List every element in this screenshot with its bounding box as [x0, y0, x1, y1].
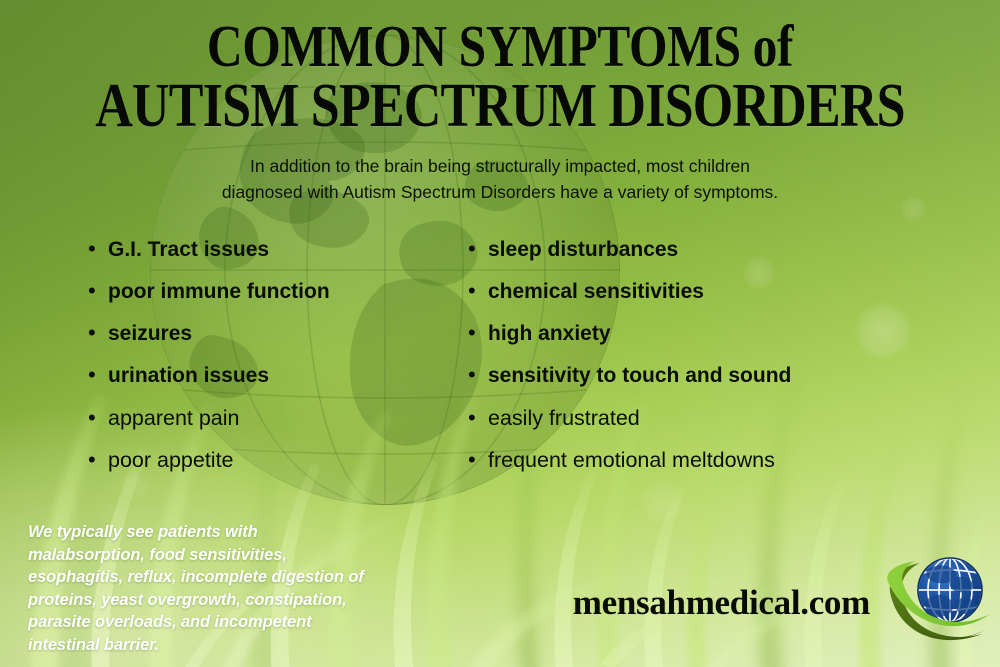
bullet-icon: • — [88, 449, 108, 471]
note-line: malabsorption, food sensitivities, — [28, 544, 448, 567]
symptom-item: • urination issues — [88, 364, 468, 406]
bullet-icon: • — [88, 364, 108, 386]
symptom-label: urination issues — [108, 364, 269, 388]
symptom-label: seizures — [108, 322, 192, 346]
symptom-item: • chemical sensitivities — [468, 280, 968, 322]
symptom-label: sleep disturbances — [488, 238, 678, 262]
symptom-item: • seizures — [88, 322, 468, 364]
symptom-item: • G.I. Tract issues — [88, 238, 468, 280]
infographic-poster: COMMON SYMPTOMS of AUTISM SPECTRUM DISOR… — [0, 0, 1000, 667]
symptom-item: • frequent emotional meltdowns — [468, 448, 968, 490]
symptom-label: chemical sensitivities — [488, 280, 704, 304]
note-line: esophagitis, reflux, incomplete digestio… — [28, 566, 448, 589]
symptoms-right-column: • sleep disturbances • chemical sensitiv… — [468, 238, 968, 490]
globe-swoosh-logo[interactable] — [882, 548, 992, 653]
subtitle-line-2: diagnosed with Autism Spectrum Disorders… — [0, 179, 1000, 205]
symptom-label: poor appetite — [108, 448, 234, 473]
bullet-icon: • — [468, 322, 488, 344]
symptom-item: • apparent pain — [88, 406, 468, 448]
page-title: COMMON SYMPTOMS of AUTISM SPECTRUM DISOR… — [80, 16, 920, 136]
symptom-label: easily frustrated — [488, 406, 640, 431]
symptom-label: apparent pain — [108, 406, 240, 431]
note-line: intestinal barrier. — [28, 634, 448, 657]
website-url[interactable]: mensahmedical.com — [573, 583, 870, 623]
practitioner-note: We typically see patients with malabsorp… — [28, 521, 448, 656]
symptom-item: • easily frustrated — [468, 406, 968, 448]
note-line: proteins, yeast overgrowth, constipation… — [28, 589, 448, 612]
bullet-icon: • — [468, 449, 488, 471]
symptom-label: G.I. Tract issues — [108, 238, 269, 262]
subtitle-line-1: In addition to the brain being structura… — [0, 153, 1000, 179]
symptom-label: frequent emotional meltdowns — [488, 448, 775, 473]
symptoms-left-column: • G.I. Tract issues • poor immune functi… — [88, 238, 468, 490]
symptom-label: sensitivity to touch and sound — [488, 364, 791, 388]
symptom-item: • high anxiety — [468, 322, 968, 364]
title-line-1: COMMON SYMPTOMS of — [80, 16, 920, 76]
bullet-icon: • — [88, 322, 108, 344]
symptom-item: • sleep disturbances — [468, 238, 968, 280]
bullet-icon: • — [88, 238, 108, 260]
note-line: We typically see patients with — [28, 521, 448, 544]
symptom-label: poor immune function — [108, 280, 330, 304]
bullet-icon: • — [468, 238, 488, 260]
symptom-item: • sensitivity to touch and sound — [468, 364, 968, 406]
symptom-item: • poor immune function — [88, 280, 468, 322]
symptom-label: high anxiety — [488, 322, 611, 346]
bullet-icon: • — [468, 364, 488, 386]
bullet-icon: • — [468, 407, 488, 429]
bullet-icon: • — [88, 280, 108, 302]
bullet-icon: • — [468, 280, 488, 302]
subtitle: In addition to the brain being structura… — [0, 153, 1000, 205]
bullet-icon: • — [88, 407, 108, 429]
title-line-2: AUTISM SPECTRUM DISORDERS — [80, 76, 920, 136]
symptom-item: • poor appetite — [88, 448, 468, 490]
note-line: parasite overloads, and incompetent — [28, 611, 448, 634]
